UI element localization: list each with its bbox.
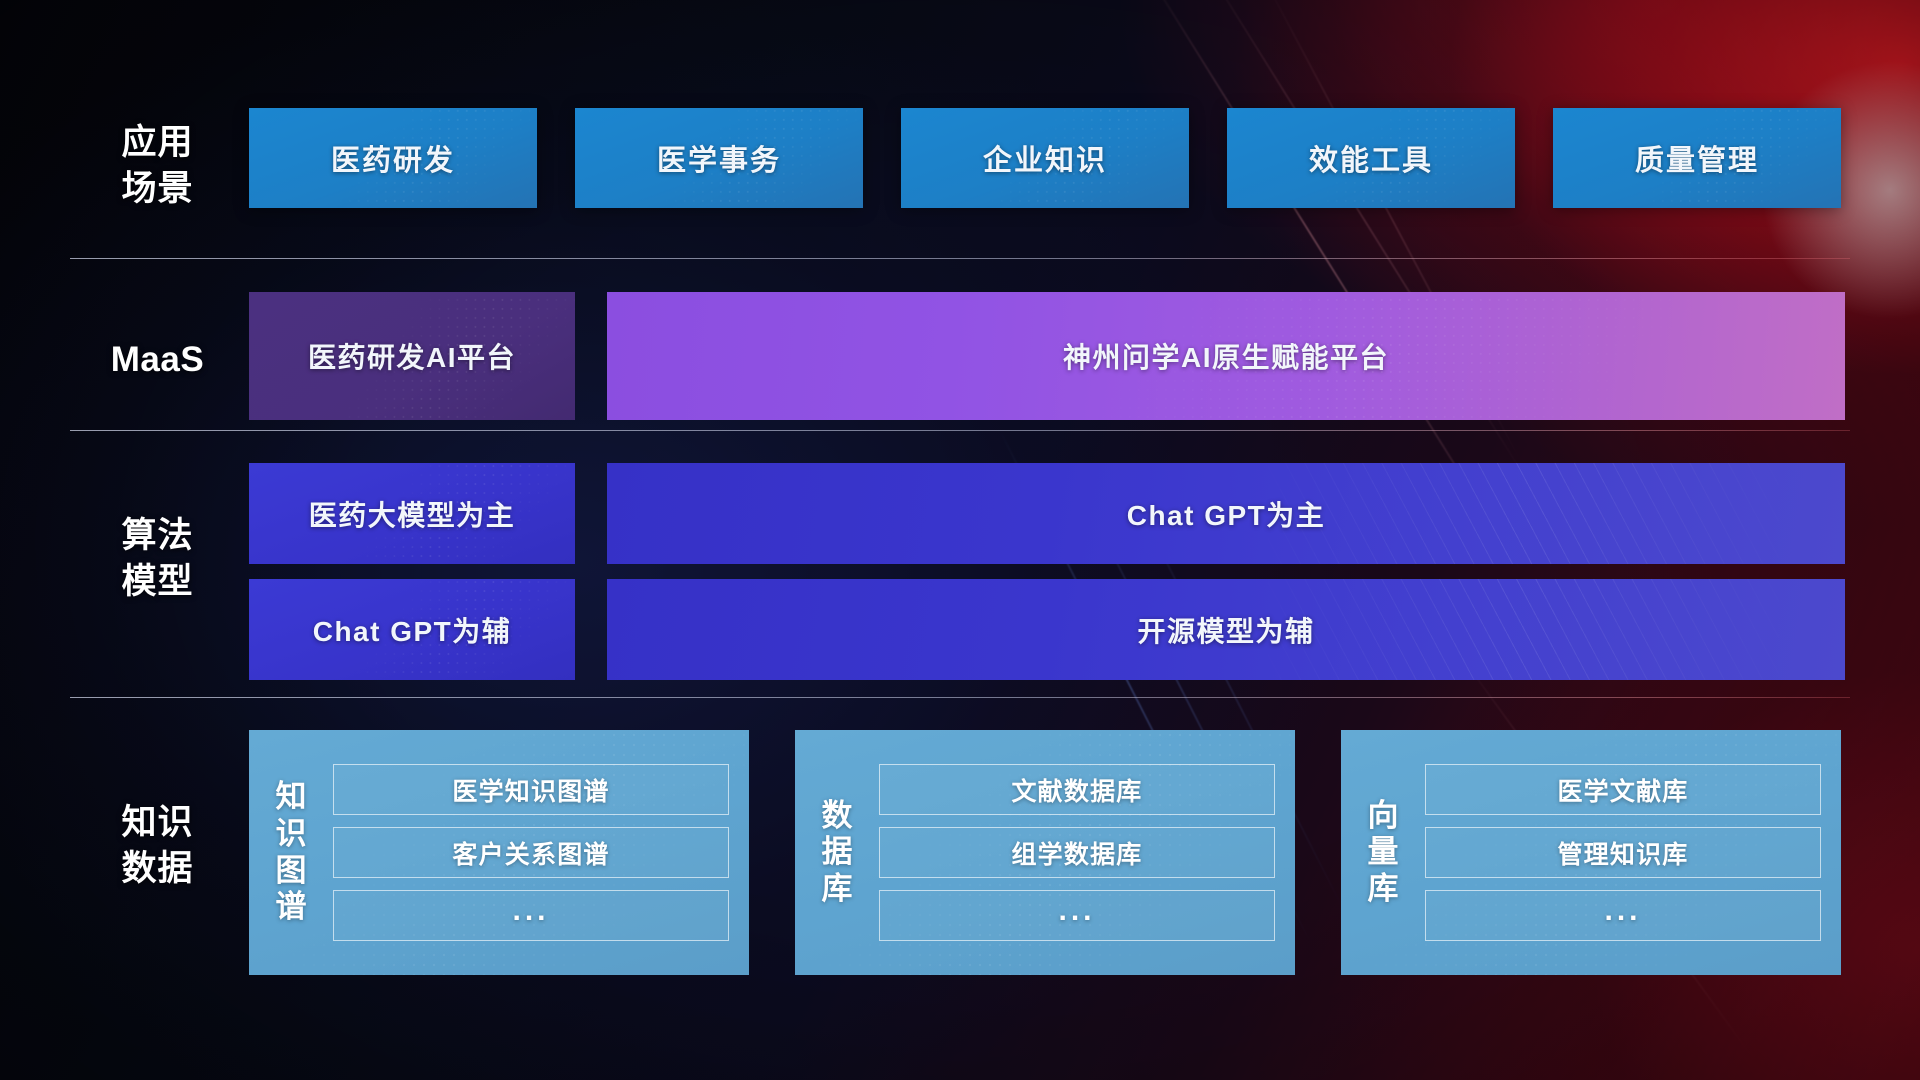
knowledge-group-items: 医学文献库 管理知识库 ... — [1425, 764, 1821, 941]
algorithm-model-row-primary: 医药大模型为主 Chat GPT为主 — [249, 463, 1845, 564]
knowledge-group-label: 向量库 — [1357, 798, 1409, 908]
knowledge-group-label: 知识图谱 — [265, 779, 317, 925]
knowledge-group-items: 文献数据库 组学数据库 ... — [879, 764, 1275, 941]
maas-cell-pharma-ai-platform[interactable]: 医药研发AI平台 — [249, 292, 575, 420]
knowledge-item-more[interactable]: ... — [333, 890, 729, 941]
scenario-cell-3[interactable]: 效能工具 — [1227, 108, 1515, 208]
knowledge-item-more[interactable]: ... — [879, 890, 1275, 941]
maas-cell-label: 神州问学AI原生赋能平台 — [1063, 336, 1389, 376]
algo-cell-label: 开源模型为辅 — [1137, 610, 1314, 650]
algo-cell-chatgpt-secondary[interactable]: Chat GPT为辅 — [249, 579, 575, 680]
knowledge-group-items: 医学知识图谱 客户关系图谱 ... — [333, 764, 729, 941]
algo-cell-chatgpt-primary[interactable]: Chat GPT为主 — [607, 463, 1845, 564]
knowledge-group-database: 数据库 文献数据库 组学数据库 ... — [795, 730, 1295, 975]
algo-cell-label: Chat GPT为辅 — [313, 610, 512, 650]
knowledge-item[interactable]: 客户关系图谱 — [333, 827, 729, 878]
maas-cell-label: 医药研发AI平台 — [308, 336, 516, 376]
scenario-cell-2[interactable]: 企业知识 — [901, 108, 1189, 208]
knowledge-item[interactable]: 医学知识图谱 — [333, 764, 729, 815]
row-label-maas: MaaS — [95, 337, 220, 383]
knowledge-data-row: 知识图谱 医学知识图谱 客户关系图谱 ... 数据库 文献数据库 组学数据库 .… — [249, 730, 1841, 975]
scenario-cell-label: 医药研发 — [331, 137, 455, 179]
divider-after-algorithm-model — [70, 697, 1850, 698]
scenario-cell-label: 效能工具 — [1309, 137, 1433, 179]
algo-cell-label: 医药大模型为主 — [309, 494, 516, 534]
scenario-cell-label: 质量管理 — [1635, 137, 1759, 179]
row-label-application-scenario: 应用 场景 — [95, 120, 220, 211]
row-label-knowledge-data: 知识 数据 — [95, 800, 220, 891]
algo-cell-label: Chat GPT为主 — [1127, 494, 1326, 534]
scenario-cell-0[interactable]: 医药研发 — [249, 108, 537, 208]
scenario-cell-label: 医学事务 — [657, 137, 781, 179]
scenario-cell-1[interactable]: 医学事务 — [575, 108, 863, 208]
knowledge-item[interactable]: 管理知识库 — [1425, 827, 1821, 878]
algorithm-model-row-secondary: Chat GPT为辅 开源模型为辅 — [249, 579, 1845, 680]
scenario-cell-label: 企业知识 — [983, 137, 1107, 179]
scenario-cell-4[interactable]: 质量管理 — [1553, 108, 1841, 208]
maas-row: 医药研发AI平台 神州问学AI原生赋能平台 — [249, 292, 1845, 420]
algo-cell-opensource-secondary[interactable]: 开源模型为辅 — [607, 579, 1845, 680]
row-label-algorithm-model: 算法 模型 — [95, 513, 220, 604]
maas-cell-shenzhou-wenxue-platform[interactable]: 神州问学AI原生赋能平台 — [607, 292, 1845, 420]
algo-cell-pharma-llm-primary[interactable]: 医药大模型为主 — [249, 463, 575, 564]
knowledge-group-vector-store: 向量库 医学文献库 管理知识库 ... — [1341, 730, 1841, 975]
divider-after-application-scenario — [70, 258, 1850, 259]
knowledge-item-more[interactable]: ... — [1425, 890, 1821, 941]
knowledge-group-label: 数据库 — [811, 798, 863, 908]
knowledge-item[interactable]: 组学数据库 — [879, 827, 1275, 878]
application-scenario-row: 医药研发 医学事务 企业知识 效能工具 质量管理 — [249, 108, 1841, 208]
knowledge-item[interactable]: 医学文献库 — [1425, 764, 1821, 815]
knowledge-group-knowledge-graph: 知识图谱 医学知识图谱 客户关系图谱 ... — [249, 730, 749, 975]
divider-after-maas — [70, 430, 1850, 431]
knowledge-item[interactable]: 文献数据库 — [879, 764, 1275, 815]
